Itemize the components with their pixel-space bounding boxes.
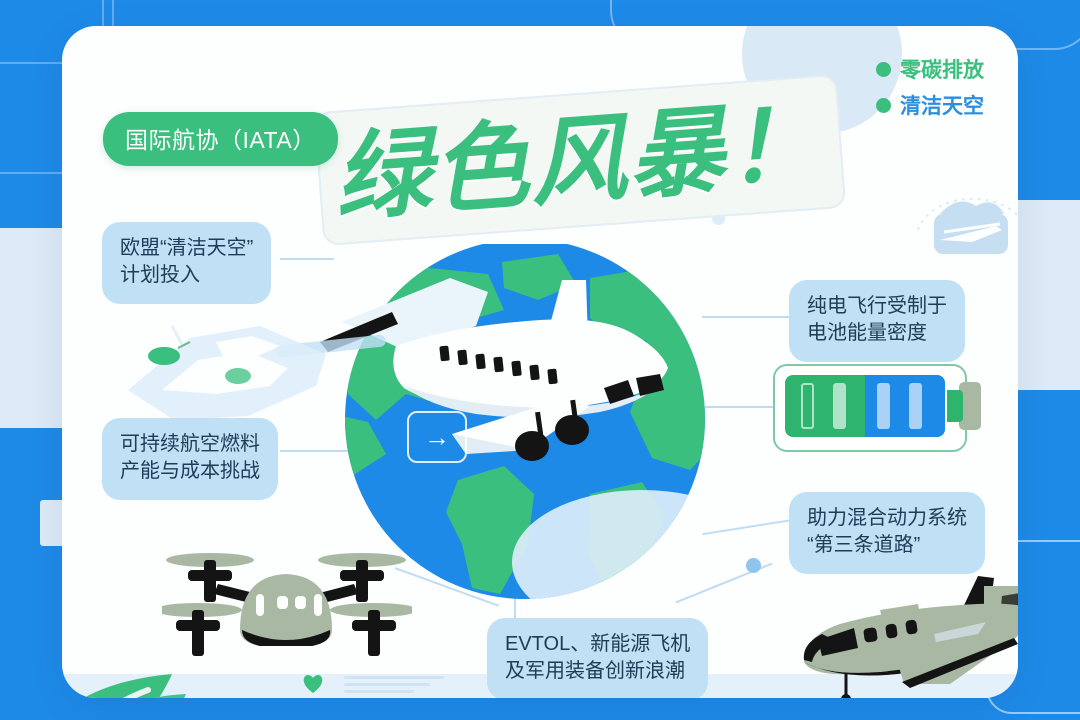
leaf-icon xyxy=(62,654,302,698)
battery-bar xyxy=(877,383,890,429)
business-jet-icon xyxy=(788,562,1018,698)
poster-card: 国际航协（IATA） 零碳排放 清洁天空 绿色风暴！ xyxy=(62,26,1018,698)
infographic-poster: 国际航协（IATA） 零碳排放 清洁天空 绿色风暴！ xyxy=(0,0,1080,720)
legend-item-zero-carbon: 零碳排放 xyxy=(876,54,984,84)
heart-icon xyxy=(302,674,324,694)
deco-map-shape xyxy=(120,298,350,438)
legend: 零碳排放 清洁天空 xyxy=(876,54,984,126)
callout-eu-clean-sky[interactable]: 欧盟“清洁天空” 计划投入 xyxy=(102,222,271,304)
callout-saf-cost[interactable]: 可持续航空燃料 产能与成本挑战 xyxy=(102,418,278,500)
legend-item-clean-sky: 清洁天空 xyxy=(876,90,984,120)
battery-bar xyxy=(833,383,846,429)
evtol-drone-icon xyxy=(162,538,412,668)
legend-dot-icon xyxy=(876,62,891,77)
legend-dot-icon xyxy=(876,98,891,113)
airliner-icon xyxy=(300,254,750,504)
plane-badge-icon xyxy=(910,186,1018,266)
legend-label: 清洁天空 xyxy=(900,90,984,120)
callout-battery-limit[interactable]: 纯电飞行受制于 电池能量密度 xyxy=(789,280,965,362)
battery-cap xyxy=(947,390,963,422)
organization-badge: 国际航协（IATA） xyxy=(103,112,338,166)
callout-evtol-wave[interactable]: EVTOL、新能源飞机 及军用装备创新浪潮 xyxy=(487,618,708,698)
legend-label: 零碳排放 xyxy=(900,54,984,84)
arrow-right-icon: → xyxy=(407,411,467,463)
battery-bar xyxy=(909,383,922,429)
callout-hybrid-third-way[interactable]: 助力混合动力系统 “第三条道路” xyxy=(789,492,985,574)
battery-bar xyxy=(801,383,814,429)
battery-icon xyxy=(773,364,967,452)
decorative-lines xyxy=(344,676,444,694)
battery-body xyxy=(785,375,945,437)
